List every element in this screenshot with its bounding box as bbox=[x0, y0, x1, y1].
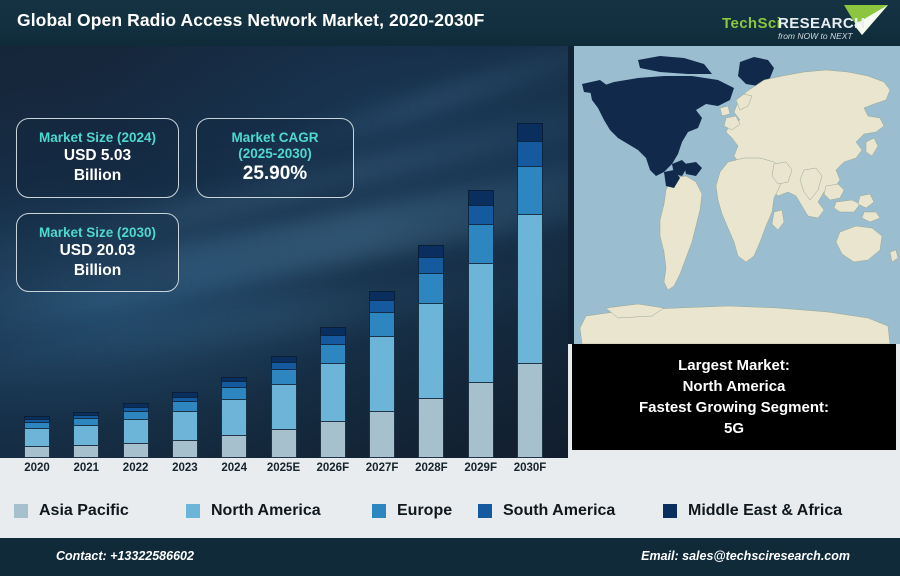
footer-email: Email: sales@techsciresearch.com bbox=[641, 549, 850, 563]
legend-label: South America bbox=[503, 502, 615, 520]
bar-segment bbox=[369, 291, 395, 300]
bar-2023 bbox=[172, 392, 198, 458]
bar-segment bbox=[517, 141, 543, 165]
bar-segment bbox=[73, 425, 99, 445]
legend-label: Asia Pacific bbox=[39, 502, 129, 520]
bar-segment bbox=[369, 312, 395, 336]
bar-segment bbox=[418, 257, 444, 272]
bar-segment bbox=[320, 335, 346, 344]
bar-segment bbox=[271, 429, 297, 458]
bar-segment bbox=[369, 411, 395, 458]
bar-2022 bbox=[123, 403, 149, 458]
world-map bbox=[568, 46, 900, 344]
bar-segment bbox=[320, 344, 346, 363]
bar-segment bbox=[123, 443, 149, 458]
kpi-market-size-2030: Market Size (2030) USD 20.03 Billion bbox=[16, 213, 179, 292]
kpi-value-line2: Billion bbox=[74, 261, 121, 281]
legend-item[interactable]: North America bbox=[186, 502, 321, 520]
fastest-segment-label: Fastest Growing Segment: bbox=[639, 397, 829, 418]
x-tick-label: 2025E bbox=[259, 462, 309, 474]
x-tick-label: 2029F bbox=[456, 462, 506, 474]
bar-segment bbox=[221, 435, 247, 458]
bar-segment bbox=[221, 387, 247, 399]
bar-segment bbox=[221, 399, 247, 435]
chart-legend: Asia PacificNorth AmericaEuropeSouth Ame… bbox=[0, 484, 900, 538]
svg-text:from NOW to NEXT: from NOW to NEXT bbox=[778, 31, 853, 41]
bar-segment bbox=[73, 445, 99, 458]
bar-2027F bbox=[369, 291, 395, 458]
bar-segment bbox=[172, 401, 198, 410]
kpi-value-line1: USD 5.03 bbox=[64, 146, 131, 166]
bar-segment bbox=[320, 421, 346, 458]
bar-2028F bbox=[418, 245, 444, 458]
svg-text:RESEARCH: RESEARCH bbox=[778, 15, 865, 32]
fastest-segment-value: 5G bbox=[724, 418, 744, 439]
bar-segment bbox=[271, 369, 297, 384]
legend-swatch-icon bbox=[186, 504, 200, 518]
largest-market-label: Largest Market: bbox=[678, 355, 790, 376]
legend-swatch-icon bbox=[478, 504, 492, 518]
x-tick-label: 2024 bbox=[209, 462, 259, 474]
bar-segment bbox=[517, 166, 543, 214]
bar-segment bbox=[369, 336, 395, 410]
legend-swatch-icon bbox=[663, 504, 677, 518]
svg-text:TechSci: TechSci bbox=[722, 15, 781, 32]
legend-item[interactable]: Middle East & Africa bbox=[663, 502, 842, 520]
chart-panel: Market Size (2024) USD 5.03 Billion Mark… bbox=[0, 46, 568, 458]
legend-swatch-icon bbox=[372, 504, 386, 518]
x-tick-label: 2026F bbox=[308, 462, 358, 474]
footer-contact: Contact: +13322586602 bbox=[56, 549, 194, 563]
bar-2026F bbox=[320, 327, 346, 458]
bar-segment bbox=[517, 214, 543, 363]
bar-segment bbox=[172, 411, 198, 440]
bar-2021 bbox=[73, 412, 99, 458]
bar-segment bbox=[123, 411, 149, 419]
bar-segment bbox=[320, 327, 346, 334]
x-tick-label: 2020 bbox=[12, 462, 62, 474]
legend-item[interactable]: South America bbox=[478, 502, 615, 520]
header-bar: Global Open Radio Access Network Market,… bbox=[0, 0, 900, 46]
bar-2024 bbox=[221, 377, 247, 458]
legend-item[interactable]: Asia Pacific bbox=[14, 502, 129, 520]
bar-segment bbox=[418, 245, 444, 257]
legend-label: Europe bbox=[397, 502, 452, 520]
bar-2025E bbox=[271, 356, 297, 458]
bar-2029F bbox=[468, 190, 494, 458]
bar-segment bbox=[418, 303, 444, 398]
bar-segment bbox=[172, 440, 198, 458]
footer-bar: Contact: +13322586602 Email: sales@techs… bbox=[0, 538, 900, 576]
kpi-market-size-2024: Market Size (2024) USD 5.03 Billion bbox=[16, 118, 179, 198]
kpi-label: Market Size (2024) bbox=[39, 130, 156, 146]
legend-item[interactable]: Europe bbox=[372, 502, 452, 520]
bar-segment bbox=[517, 123, 543, 142]
bar-segment bbox=[468, 190, 494, 205]
bar-segment bbox=[418, 273, 444, 303]
x-tick-label: 2021 bbox=[61, 462, 111, 474]
techsci-research-logo: TechSci RESEARCH from NOW to NEXT bbox=[716, 1, 894, 45]
bar-segment bbox=[468, 224, 494, 262]
x-axis-labels: 202020212022202320242025E2026F2027F2028F… bbox=[0, 458, 568, 484]
bar-2030F bbox=[517, 123, 543, 458]
x-tick-label: 2022 bbox=[111, 462, 161, 474]
x-tick-label: 2027F bbox=[357, 462, 407, 474]
x-tick-label: 2023 bbox=[160, 462, 210, 474]
bar-segment bbox=[517, 363, 543, 458]
bar-segment bbox=[418, 398, 444, 458]
x-tick-label: 2028F bbox=[406, 462, 456, 474]
bar-segment bbox=[468, 263, 494, 383]
infographic-page: Global Open Radio Access Network Market,… bbox=[0, 0, 900, 576]
bar-segment bbox=[271, 362, 297, 369]
kpi-market-cagr: Market CAGR (2025-2030) 25.90% bbox=[196, 118, 354, 198]
kpi-label-line1: Market CAGR bbox=[231, 130, 318, 146]
bar-segment bbox=[468, 382, 494, 458]
bar-segment bbox=[271, 384, 297, 430]
legend-label: North America bbox=[211, 502, 321, 520]
key-insights-box: Largest Market: North America Fastest Gr… bbox=[572, 344, 896, 450]
largest-market-value: North America bbox=[683, 376, 786, 397]
page-title: Global Open Radio Access Network Market,… bbox=[17, 10, 484, 31]
bar-2020 bbox=[24, 416, 50, 458]
kpi-value-line1: USD 20.03 bbox=[60, 241, 136, 261]
bar-segment bbox=[24, 428, 50, 446]
bar-segment bbox=[320, 363, 346, 421]
kpi-value: 25.90% bbox=[243, 162, 307, 186]
kpi-value-line2: Billion bbox=[74, 166, 121, 186]
bar-segment bbox=[369, 300, 395, 312]
legend-label: Middle East & Africa bbox=[688, 502, 842, 520]
kpi-label-line2: (2025-2030) bbox=[238, 146, 312, 162]
bar-segment bbox=[468, 205, 494, 224]
kpi-label: Market Size (2030) bbox=[39, 225, 156, 241]
bar-segment bbox=[24, 446, 50, 458]
legend-swatch-icon bbox=[14, 504, 28, 518]
bar-segment bbox=[123, 419, 149, 443]
panel-spacer bbox=[568, 450, 900, 484]
map-left-edge bbox=[568, 46, 574, 344]
x-tick-label: 2030F bbox=[505, 462, 555, 474]
